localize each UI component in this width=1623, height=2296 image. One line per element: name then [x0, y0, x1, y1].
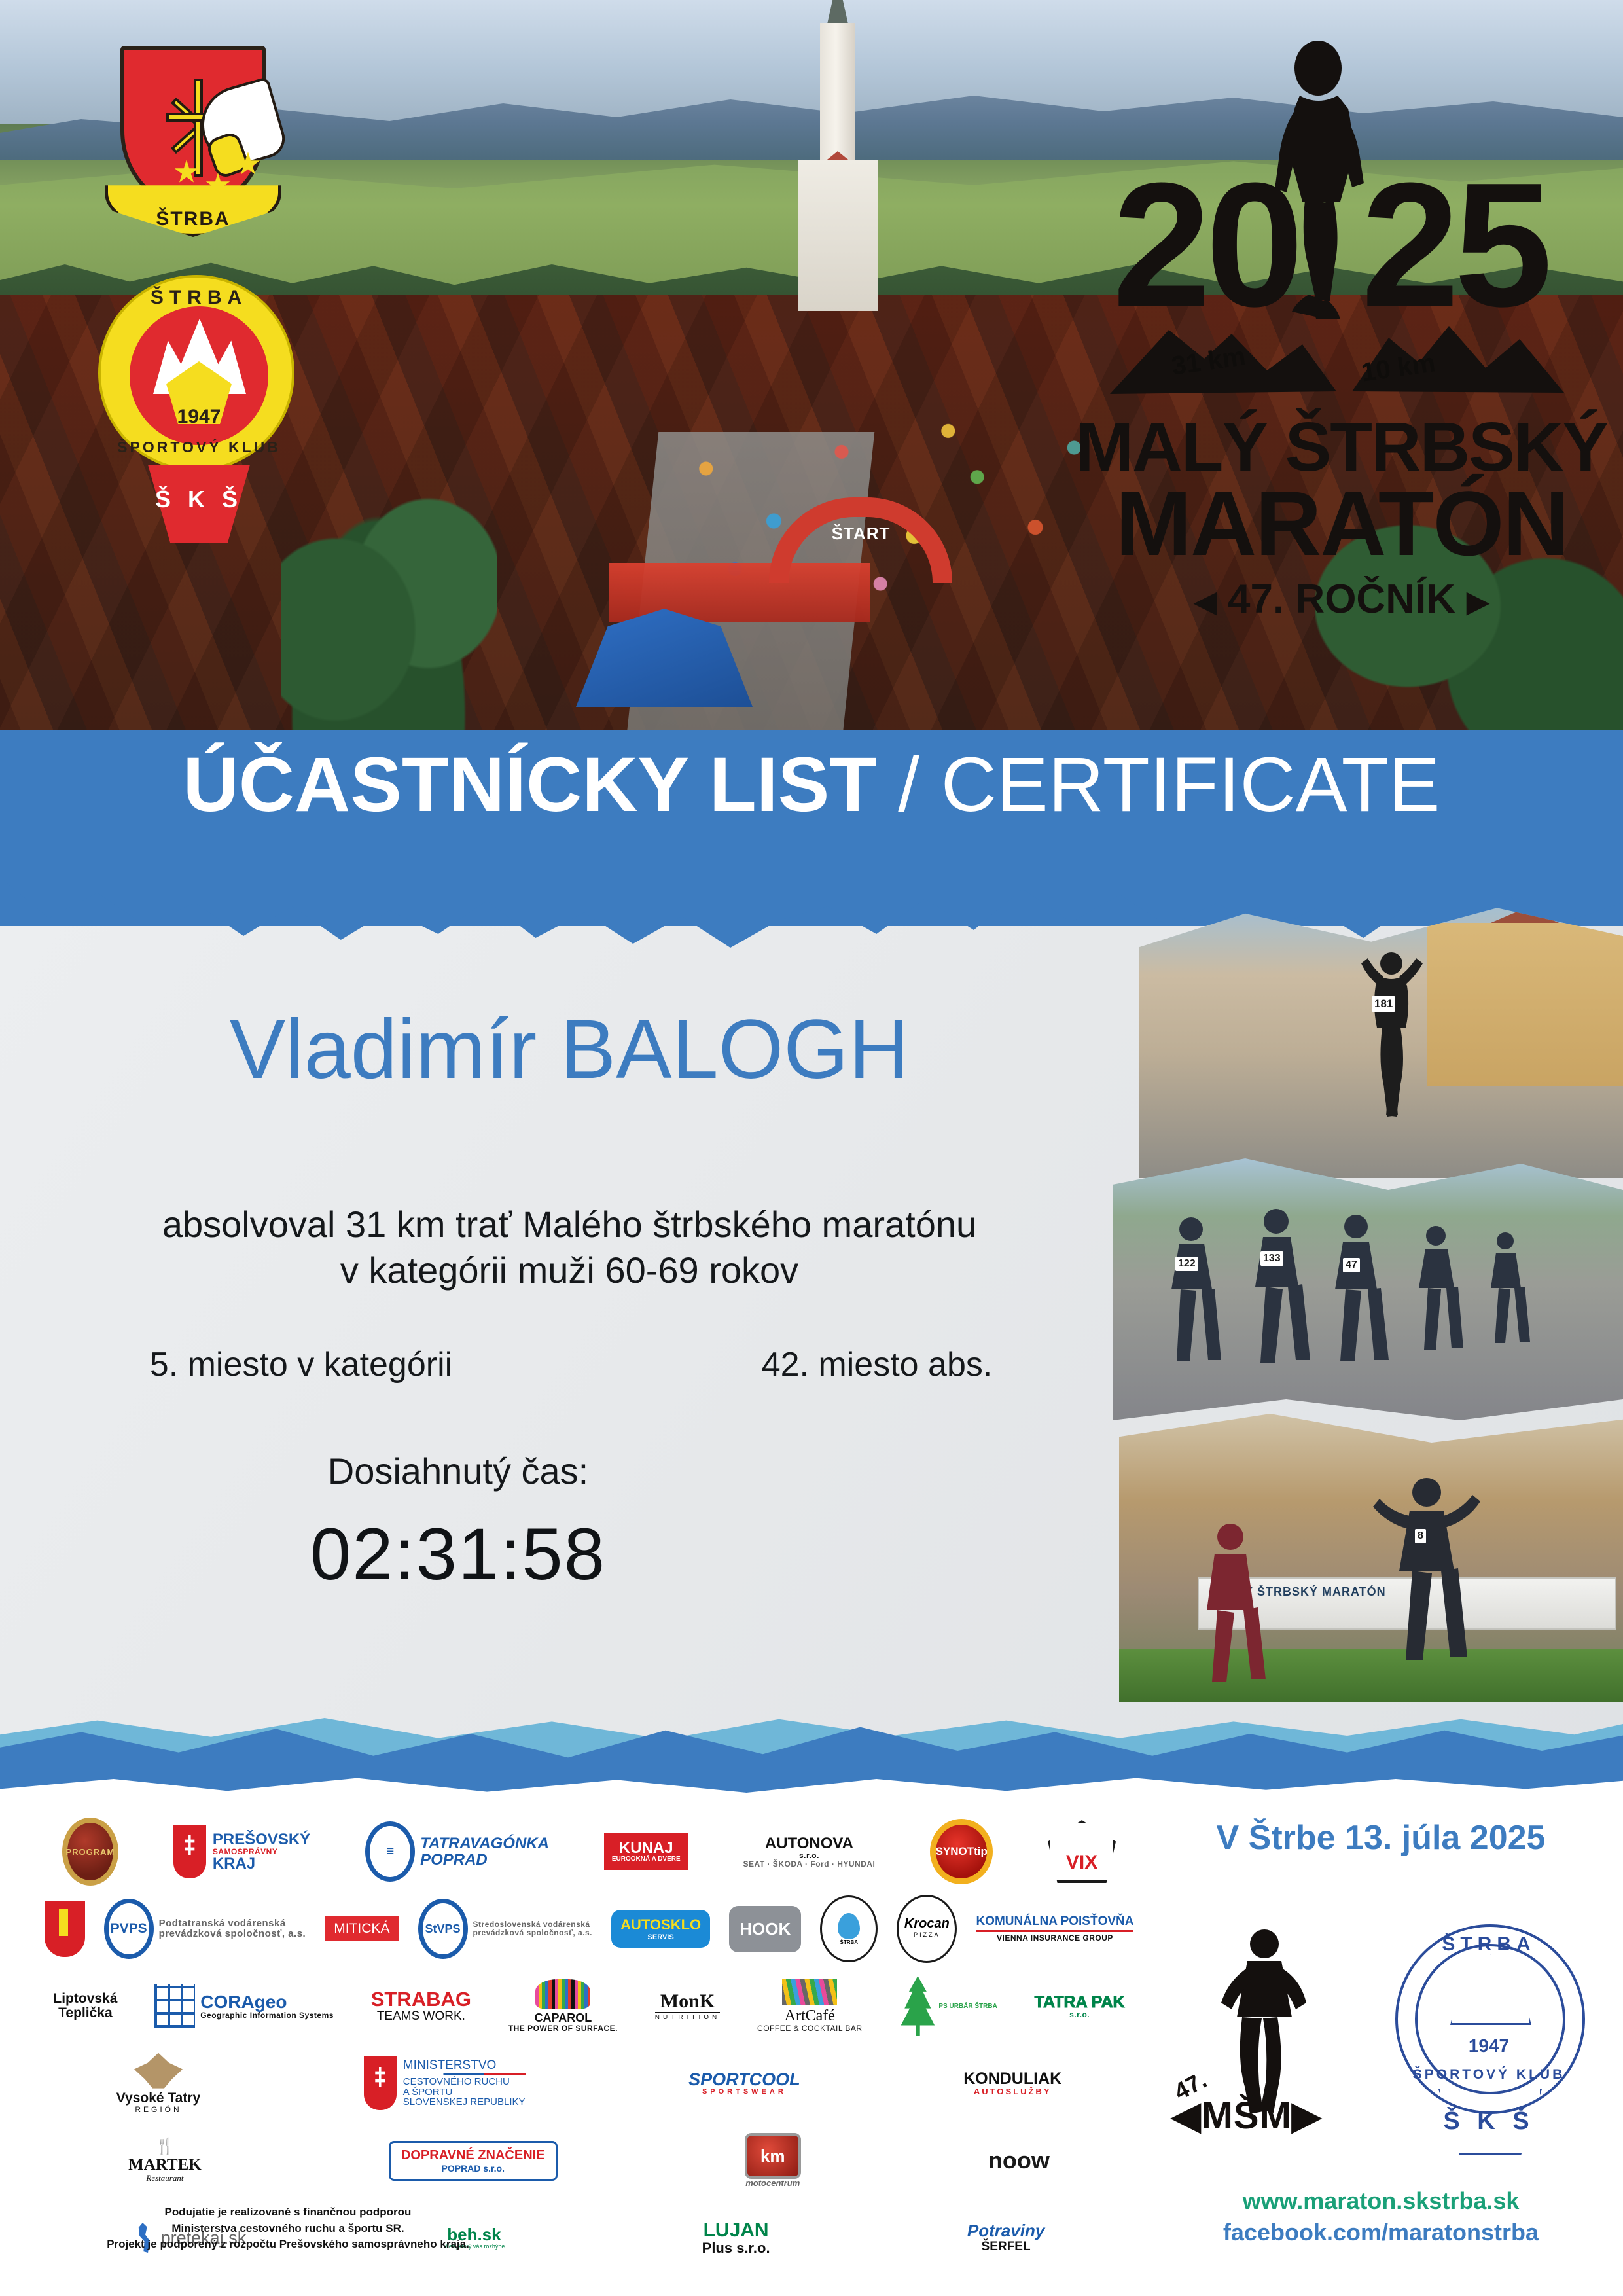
tatravagonka-mark-icon: ≡: [365, 1821, 415, 1882]
sponsor-logo-ps-urbar[interactable]: PS URBÁR ŠTRBA: [885, 1972, 1011, 2040]
sks-stamp-emblem: ŠTRBA 1947 ŠPORTOVÝ KLUB Š K Š: [1381, 1911, 1597, 2140]
participant-name: Vladimír BALOGH: [59, 1008, 1080, 1092]
headline-title-sk: ÚČASTNÍCKY LIST: [183, 742, 877, 828]
sponsor-sub: motocentrum: [745, 2179, 801, 2188]
website-link[interactable]: www.maraton.skstrba.sk: [1152, 2187, 1610, 2215]
sks-bottom-label: ŠPORTOVÝ KLUB: [101, 439, 297, 456]
finish-time-label: Dosiahnutý čas:: [183, 1450, 733, 1492]
edelweiss-icon: [134, 2053, 183, 2089]
sponsor-row: PROGRAM PREŠOVSKÝ SAMOSPRÁVNY KRAJ ≡ TAT…: [39, 1813, 1139, 1890]
photo-female-finisher: 181: [1139, 897, 1623, 1178]
sponsor-sub: TEAMS WORK.: [371, 2010, 471, 2023]
sponsor-logo-ministerstvo[interactable]: MINISTERSTVO CESTOVNÉHO RUCHU A ŠPORTU S…: [287, 2049, 602, 2117]
sponsor-name: MINISTERSTVO: [403, 2059, 526, 2072]
autosklo-badge: AUTOSKLO SERVIS: [611, 1910, 710, 1948]
achievement-line-1: absolvoval 31 km trať Malého štrbského m…: [59, 1201, 1080, 1248]
event-date: V Štrbe 13. júla 2025: [1152, 1818, 1610, 1857]
seal-icon: PROGRAM: [62, 1818, 118, 1886]
sponsor-name: StVPS: [425, 1922, 461, 1936]
sponsor-name: HOOK: [740, 1919, 791, 1939]
grid-icon: [154, 1984, 195, 2028]
stamp-top-label: ŠTRBA: [1381, 1933, 1597, 1956]
sks-year-label: 1947: [101, 406, 297, 428]
sponsor-name: Krocan: [899, 1916, 955, 1931]
sponsor-logo-stvps[interactable]: StVPS Stredoslovenská vodárenská prevádz…: [413, 1895, 597, 1963]
finish-time-value: 02:31:58: [183, 1512, 733, 1596]
footer-right-column: V Štrbe 13. júla 2025 47. ◀MŠM▶ ŠTRBA 19: [1152, 1800, 1610, 2284]
sponsor-name: MITICKÁ: [334, 1921, 389, 1936]
sponsor-logo-synottip[interactable]: SYNOTtip: [907, 1818, 1016, 1886]
edition-label: 47. ROČNÍK: [1228, 577, 1455, 622]
event-edition: ◀ 47. ROČNÍK ▶: [1073, 576, 1610, 622]
sponsor-name: MARTEK: [128, 2157, 202, 2174]
sponsor-logo-pvps[interactable]: PVPS Podtatranská vodárenská prevádzková…: [99, 1895, 311, 1963]
sponsor-name: LUJAN: [702, 2220, 770, 2241]
strba-coat-of-arms: ŠTRBA: [105, 46, 281, 249]
sponsor-sub: VIENNA INSURANCE GROUP: [976, 1934, 1133, 1943]
sponsor-logo-lujan[interactable]: LUJAN Plus s.r.o.: [608, 2204, 864, 2272]
crest-icon: [45, 1901, 85, 1957]
sponsor-logo-strabag[interactable]: STRABAG TEAMS WORK.: [357, 1972, 485, 2040]
disclaimer-line-1: Podujatie je realizované s finančnou pod…: [39, 2204, 537, 2221]
sponsor-sub: COFFEE & COCKTAIL BAR: [757, 2024, 863, 2033]
coat-of-arms-label: ŠTRBA: [105, 208, 281, 230]
sponsor-name: CORAgeo: [200, 1992, 334, 2011]
caparol-elephant-icon: [535, 1979, 590, 2009]
sponsor-sub: PIZZA: [899, 1931, 955, 1938]
stamp-abbr-label: Š K Š: [1381, 2108, 1597, 2136]
sponsor-name: MonK: [655, 1991, 720, 2012]
church: [795, 23, 880, 304]
sks-club-emblem: ŠTRBA 1947 ŠPORTOVÝ KLUB Š K Š: [98, 275, 294, 471]
stamp-year-label: 1947: [1381, 2036, 1597, 2056]
sponsor-logo-tatravagonka[interactable]: ≡ TATRAVAGÓNKA POPRAD: [342, 1818, 572, 1886]
sponsor-name: KUNAJ: [612, 1840, 681, 1856]
sponsor-logo-vix[interactable]: VIX: [1025, 1818, 1139, 1886]
absolute-placement: 42. miesto abs.: [654, 1345, 1099, 1384]
headline-title: ÚČASTNÍCKY LIST / CERTIFICATE: [0, 746, 1623, 823]
sponsor-sub: AUTOSLUŽBY: [963, 2087, 1061, 2096]
sponsor-name: noow: [988, 2147, 1050, 2174]
msm-abbr-label: ◀MŠM▶: [1171, 2093, 1322, 2138]
category-placement: 5. miesto v kategórii: [85, 1345, 517, 1384]
sponsor-logo-corageo[interactable]: CORAgeo Geographic Information Systems: [141, 1972, 348, 2040]
start-banner-text: ŠTART: [791, 524, 931, 544]
sponsor-logo-komunalna[interactable]: KOMUNÁLNA POISŤOVŇA VIENNA INSURANCE GRO…: [971, 1895, 1139, 1963]
sponsor-logo-autonova[interactable]: AUTONOVA s.r.o. SEAT · ŠKODA · Ford · HY…: [721, 1818, 899, 1886]
facebook-link[interactable]: facebook.com/maratonstrba: [1152, 2219, 1610, 2246]
sponsor-logo-miticka[interactable]: MITICKÁ: [320, 1895, 404, 1963]
sponsor-logo-noow[interactable]: noow: [899, 2126, 1139, 2195]
sponsor-name: KOMUNÁLNA POISŤOVŇA: [976, 1915, 1133, 1928]
sponsor-logo-pd-strba[interactable]: ŠTRBA: [815, 1895, 883, 1963]
sponsor-sub: SERVIS: [620, 1933, 701, 1941]
runner-woman-silhouette: [1355, 949, 1427, 1139]
sponsor-name: AUTOSKLO: [620, 1916, 701, 1933]
sponsor-sub: Geographic Information Systems: [200, 2011, 334, 2020]
sponsor-logo-grid: PROGRAM PREŠOVSKÝ SAMOSPRÁVNY KRAJ ≡ TAT…: [39, 1813, 1139, 2206]
vix-shield-icon: VIX: [1048, 1820, 1116, 1883]
sponsor-sub: POPRAD: [420, 1852, 549, 1868]
achievement-line-2: v kategórii muži 60-69 rokov: [59, 1247, 1080, 1294]
event-title-block: 20 25 31 km 10 km MALÝ ŠTRBSKÝ MARATÓN ◀…: [1073, 26, 1610, 602]
headline-title-en: / CERTIFICATE: [876, 742, 1440, 828]
sponsor-sub: CESTOVNÉHO RUCHU: [403, 2077, 526, 2087]
bib-number: 8: [1415, 1529, 1426, 1543]
sponsor-name: PREŠOVSKÝ: [213, 1831, 310, 1848]
region-flag-icon: [173, 1825, 206, 1878]
sponsor-name: KONDULIAK: [963, 2070, 1061, 2087]
sponsor-row: 🍴 MARTEK Restaurant DOPRAVNÉ ZNAČENIE PO…: [39, 2122, 1139, 2199]
sponsor-name: AUTONOVA: [743, 1835, 876, 1852]
turkey-oval-icon: Krocan PIZZA: [897, 1895, 957, 1963]
sponsor-logo-hook[interactable]: HOOK: [724, 1895, 806, 1963]
sponsor-logo-presovsky-kraj[interactable]: PREŠOVSKÝ SAMOSPRÁVNY KRAJ: [151, 1818, 333, 1886]
sponsor-name: ArtCafé: [757, 2008, 863, 2024]
hook-badge: HOOK: [729, 1906, 801, 1952]
sponsor-sub2: KRAJ: [213, 1856, 310, 1872]
sponsor-sub3: SLOVENSKEJ REPUBLIKY: [403, 2097, 526, 2108]
sks-abbr-label: Š K Š: [101, 486, 297, 513]
sponsor-logo-autosklo[interactable]: AUTOSKLO SERVIS: [607, 1895, 715, 1963]
sponsor-name: STRABAG: [371, 1989, 471, 2011]
sponsor-sub: REGIÓN: [116, 2106, 200, 2114]
sponsor-sub: s.r.o.: [1035, 2011, 1125, 2019]
sponsor-name: TATRAVAGÓNKA: [420, 1835, 549, 1852]
sponsor-sub2: prevádzková spoločnosť, a.s.: [159, 1929, 306, 1939]
sponsor-logo-konduliak[interactable]: KONDULIAK AUTOSLUŽBY: [886, 2049, 1139, 2117]
pvps-oval-icon: PVPS: [104, 1899, 154, 1959]
sponsor-name: TATRA PAK: [1035, 1994, 1125, 2011]
tree-icon: [899, 1976, 936, 2036]
sponsor-name: PVPS: [111, 1921, 147, 1937]
sponsor-name: SPORTCOOL: [688, 2070, 800, 2089]
sponsor-name: SYNOTtip: [936, 1845, 988, 1858]
sponsor-sub2: SEAT · ŠKODA · Ford · HYUNDAI: [743, 1860, 876, 1869]
sponsor-name: Vysoké Tatry: [116, 2091, 200, 2106]
funding-disclaimer: Podujatie je realizované s finančnou pod…: [39, 2204, 537, 2253]
sponsor-sub: ŠTRBA: [840, 1939, 859, 1945]
sponsor-logo-program[interactable]: PROGRAM: [39, 1818, 141, 1886]
stvps-oval-icon: StVPS: [418, 1899, 468, 1959]
sponsor-logo-km-motocentrum[interactable]: km motocentrum: [656, 2126, 890, 2195]
sponsor-sub: ŠERFEL: [967, 2240, 1045, 2253]
bib-number: 47: [1343, 1258, 1360, 1272]
sponsor-sub: Teplička: [53, 2006, 117, 2020]
photo-finish-line: MALÝ ŠTRBSKÝ MARATÓN 8: [1119, 1414, 1623, 1702]
sponsor-sub: POPRAD s.r.o.: [401, 2163, 545, 2174]
sponsor-name: Liptovská: [53, 1992, 117, 2006]
sponsor-sub2: prevádzková spoločnosť, a.s.: [473, 1929, 592, 1937]
sponsor-logo-tatrapak[interactable]: TATRA PAK s.r.o.: [1020, 1972, 1139, 2040]
sponsor-sub: NUTRITION: [655, 2012, 720, 2022]
slovak-emblem-icon: [364, 2056, 397, 2110]
sponsor-logo-kunaj[interactable]: KUNAJ EUROOKNÁ A DVERE: [581, 1818, 711, 1886]
sponsor-logo-dopravne-znacenie[interactable]: DOPRAVNÉ ZNAČENIE POPRAD s.r.o.: [300, 2126, 647, 2195]
dz-badge: DOPRAVNÉ ZNAČENIE POPRAD s.r.o.: [389, 2141, 558, 2181]
sponsor-sub: THE POWER OF SURFACE.: [508, 2024, 618, 2033]
km-badge-icon: km: [745, 2133, 801, 2179]
event-name-line2: MARATÓN: [1073, 478, 1610, 569]
sponsor-logo-liptovska-teplicka[interactable]: Liptovská Teplička: [39, 1972, 132, 2040]
sponsor-row: PVPS Podtatranská vodárenská prevádzková…: [39, 1890, 1139, 1967]
sponsor-name: km: [760, 2147, 785, 2165]
sponsor-name: DOPRAVNÉ ZNAČENIE: [401, 2148, 545, 2163]
sponsor-name: VIX: [1066, 1852, 1097, 1874]
sponsor-logo-caparol[interactable]: CAPAROL THE POWER OF SURFACE.: [494, 1972, 632, 2040]
sponsor-logo-martek[interactable]: 🍴 MARTEK Restaurant: [39, 2126, 291, 2195]
sponsor-name: CAPAROL: [508, 2012, 618, 2024]
arrow-right-icon: ▶: [1467, 586, 1489, 618]
shield-icon: [120, 46, 266, 209]
runners-group-silhouettes: [1113, 1158, 1623, 1420]
sponsor-logo-liptovska-teplicka-crest[interactable]: [39, 1895, 90, 1963]
artcafe-stripes-icon: [782, 1979, 837, 2005]
msm-emblem: 47. ◀MŠM▶: [1165, 1918, 1361, 2134]
sponsor-logo-artcafe[interactable]: ArtCafé COFFEE & COCKTAIL BAR: [743, 1972, 876, 2040]
sponsor-sub2: A ŠPORTU: [403, 2087, 526, 2098]
photo-collage: 181 122 133 47 MALÝ ŠTRBSKÝ MARATÓN: [1113, 897, 1623, 1741]
finisher-silhouettes: [1119, 1414, 1623, 1702]
photo-runners-group: 122 133 47: [1113, 1158, 1623, 1420]
sponsor-sub: Plus s.r.o.: [702, 2240, 770, 2255]
sponsor-row: Liptovská Teplička CORAgeo Geographic In…: [39, 1967, 1139, 2045]
sponsor-logo-vysoke-tatry[interactable]: Vysoké Tatry REGIÓN: [39, 2049, 277, 2117]
sks-top-label: ŠTRBA: [101, 287, 297, 309]
disclaimer-line-3: Projekt je podporený z rozpočtu Prešovsk…: [39, 2236, 537, 2253]
synot-oval-icon: SYNOTtip: [930, 1819, 993, 1884]
sponsor-logo-potraviny-serfel[interactable]: Potraviny ŠERFEL: [873, 2204, 1139, 2272]
sponsor-logo-sportcool[interactable]: SPORTCOOL SPORTSWEAR: [611, 2049, 877, 2117]
sponsor-sub: Restaurant: [128, 2174, 202, 2183]
sponsor-logo-krocan[interactable]: Krocan PIZZA: [892, 1895, 962, 1963]
bib-number: 133: [1260, 1251, 1283, 1266]
runner-silhouette-icon: [1245, 38, 1395, 319]
sponsor-sub: EUROOKNÁ A DVERE: [612, 1856, 681, 1863]
sponsor-row: Vysoké Tatry REGIÓN MINISTERSTVO CESTOVN…: [39, 2045, 1139, 2122]
miticka-badge: MITICKÁ: [325, 1916, 399, 1941]
sponsor-footer: PROGRAM PREŠOVSKÝ SAMOSPRÁVNY KRAJ ≡ TAT…: [0, 1793, 1623, 2296]
sponsor-logo-monk[interactable]: MonK NUTRITION: [641, 1972, 734, 2040]
bib-number: 181: [1372, 996, 1395, 1012]
trees-left: [281, 445, 497, 753]
waterdrop-oval-icon: ŠTRBA: [820, 1895, 878, 1962]
sponsor-name: PS URBÁR ŠTRBA: [938, 2003, 997, 2010]
bib-number: 122: [1175, 1257, 1198, 1271]
cutlery-icon: 🍴: [128, 2138, 202, 2155]
sponsor-sub: s.r.o.: [743, 1852, 876, 1860]
kunaj-badge: KUNAJ EUROOKNÁ A DVERE: [604, 1833, 688, 1870]
sponsor-name: Potraviny: [967, 2222, 1045, 2240]
stamp-bottom-label: ŠPORTOVÝ KLUB: [1381, 2067, 1597, 2083]
sponsor-name: PROGRAM: [66, 1847, 115, 1857]
sponsor-sub: Podtatranská vodárenská: [159, 1918, 306, 1929]
sponsor-sub: SPORTSWEAR: [688, 2089, 800, 2096]
disclaimer-line-2: Ministerstva cestovného ruchu a športu S…: [39, 2221, 537, 2237]
arrow-left-icon: ◀: [1194, 586, 1217, 618]
